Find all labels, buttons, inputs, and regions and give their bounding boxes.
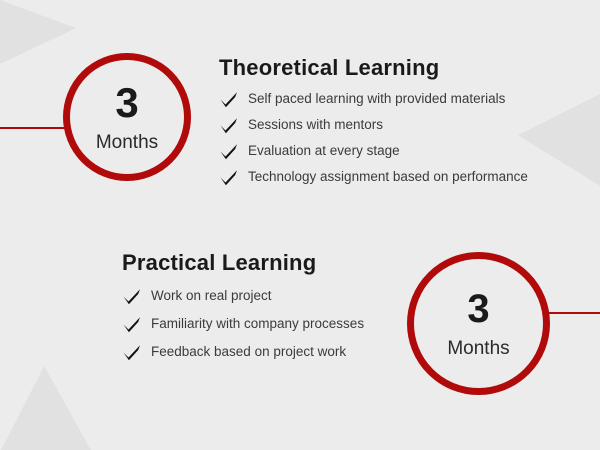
bullet-list-practical: Work on real project Familiarity with co… — [122, 288, 442, 361]
check-icon — [219, 91, 239, 108]
connector-line-right — [546, 312, 600, 314]
list-item: Self paced learning with provided materi… — [219, 91, 579, 108]
section-title-practical: Practical Learning — [122, 250, 442, 276]
duration-badge-theoretical: 3 Months — [63, 53, 191, 181]
duration-unit-practical: Months — [447, 339, 509, 358]
list-item: Feedback based on project work — [122, 344, 442, 361]
list-item-label: Self paced learning with provided materi… — [248, 92, 505, 107]
section-practical-learning: Practical Learning Work on real project … — [122, 250, 442, 372]
list-item-label: Sessions with mentors — [248, 118, 383, 133]
check-icon — [219, 169, 239, 186]
list-item: Work on real project — [122, 288, 442, 305]
bullet-list-theoretical: Self paced learning with provided materi… — [219, 91, 579, 186]
decorative-triangle-top-left — [0, 0, 76, 64]
list-item: Familiarity with company processes — [122, 316, 442, 333]
list-item: Evaluation at every stage — [219, 143, 579, 160]
connector-line-left — [0, 127, 66, 129]
list-item-label: Work on real project — [151, 289, 272, 304]
duration-number-practical: 3 — [467, 289, 489, 329]
list-item-label: Technology assignment based on performan… — [248, 170, 528, 185]
section-theoretical-learning: Theoretical Learning Self paced learning… — [219, 55, 579, 195]
list-item-label: Feedback based on project work — [151, 345, 346, 360]
check-icon — [122, 344, 142, 361]
check-icon — [122, 316, 142, 333]
list-item-label: Evaluation at every stage — [248, 144, 400, 159]
slide-canvas: 3 Months Theoretical Learning Self paced… — [0, 0, 600, 450]
check-icon — [122, 288, 142, 305]
check-icon — [219, 117, 239, 134]
list-item: Technology assignment based on performan… — [219, 169, 579, 186]
duration-number-theoretical: 3 — [115, 82, 138, 124]
list-item: Sessions with mentors — [219, 117, 579, 134]
section-title-theoretical: Theoretical Learning — [219, 55, 579, 81]
list-item-label: Familiarity with company processes — [151, 317, 364, 332]
decorative-triangle-bottom-left — [0, 366, 92, 450]
check-icon — [219, 143, 239, 160]
duration-unit-theoretical: Months — [96, 133, 158, 152]
